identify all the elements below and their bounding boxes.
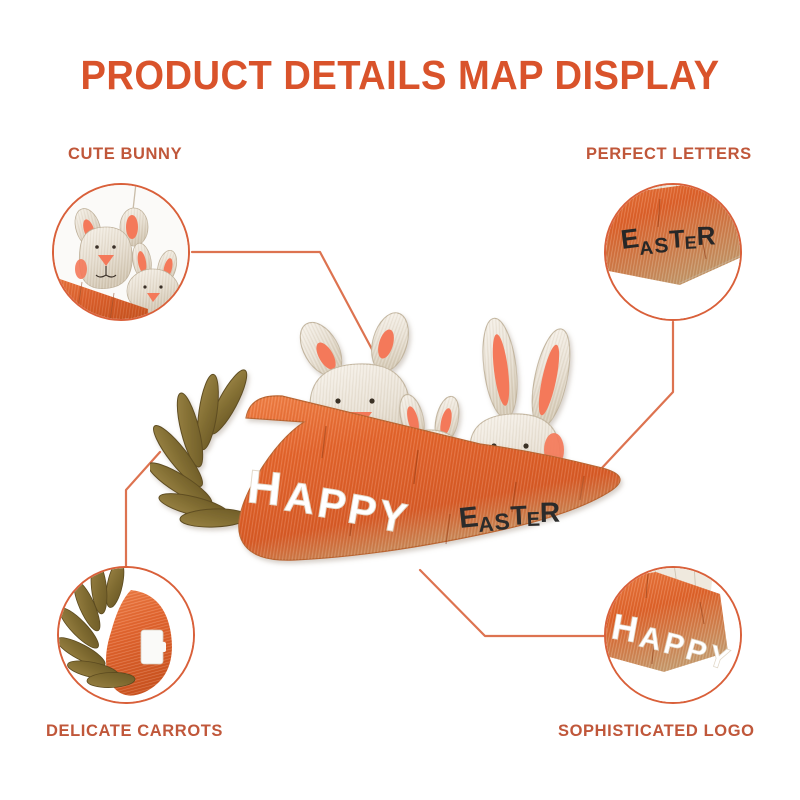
sign-text-easter: E A S T E R xyxy=(457,497,560,537)
hanger-slot xyxy=(141,630,163,664)
callout-label-delicate-carrots: DELICATE CARROTS xyxy=(46,722,223,741)
svg-text:E: E xyxy=(526,509,540,531)
product-image: H A P P Y E A S T E R HAPPY EASTER xyxy=(150,300,690,590)
callout-label-sophisticated-logo: SOPHISTICATED LOGO xyxy=(558,722,755,741)
svg-text:E: E xyxy=(684,232,697,253)
svg-text:T: T xyxy=(510,500,529,531)
svg-text:A: A xyxy=(477,513,494,537)
infographic-page: PRODUCT DETAILS MAP DISPLAY CUTE BUNNY P… xyxy=(0,0,800,800)
svg-text:R: R xyxy=(696,220,716,251)
svg-text:A: A xyxy=(282,472,319,523)
svg-text:S: S xyxy=(653,234,669,258)
svg-text:H: H xyxy=(245,459,284,515)
svg-text:T: T xyxy=(668,225,685,254)
page-title: PRODUCT DETAILS MAP DISPLAY xyxy=(28,52,772,99)
callout-label-perfect-letters: PERFECT LETTERS xyxy=(586,145,752,164)
easter-word-value: EASTER xyxy=(604,183,668,187)
callout-label-cute-bunny: CUTE BUNNY xyxy=(68,145,182,164)
sign-text-secondary-value: EASTER xyxy=(150,300,214,304)
carrot-leaves xyxy=(150,366,253,528)
svg-text:E: E xyxy=(457,501,480,535)
svg-text:A: A xyxy=(638,238,654,260)
svg-text:R: R xyxy=(540,497,561,528)
svg-text:S: S xyxy=(494,508,511,535)
